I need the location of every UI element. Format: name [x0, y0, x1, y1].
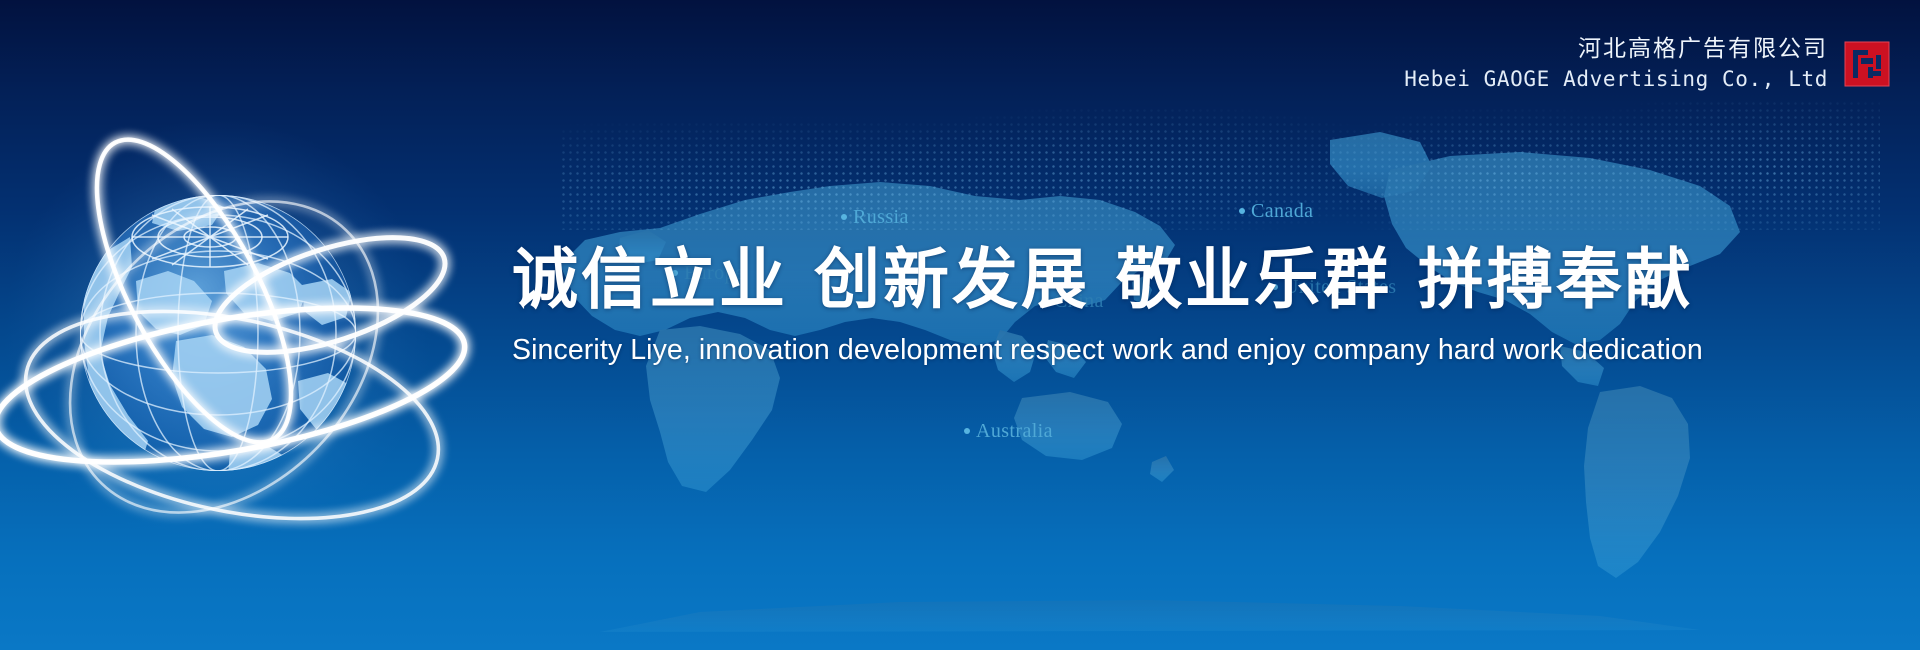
company-identity: 河北高格广告有限公司 Hebei GAOGE Advertising Co., … — [1404, 34, 1890, 93]
globe-orbit-graphic — [0, 85, 450, 555]
map-marker-dot-icon — [964, 428, 970, 434]
slogan-block: 诚信立业 创新发展 敬业乐群 拼搏奉献 Sincerity Liye, inno… — [512, 245, 1882, 367]
slogan-english: Sincerity Liye, innovation development r… — [512, 334, 1882, 367]
map-label-australia: Australia — [964, 420, 1053, 443]
promo-banner: Russia Canada Australia Europe China Uni… — [0, 0, 1920, 650]
map-label-russia: Russia — [841, 206, 909, 229]
company-name-block: 河北高格广告有限公司 Hebei GAOGE Advertising Co., … — [1404, 34, 1828, 93]
map-marker-dot-icon — [841, 214, 847, 220]
gaoge-monogram-logo-icon — [1844, 41, 1890, 87]
company-name-en: Hebei GAOGE Advertising Co., Ltd — [1404, 66, 1828, 93]
map-label-canada: Canada — [1239, 200, 1313, 223]
slogan-chinese: 诚信立业 创新发展 敬业乐群 拼搏奉献 — [512, 245, 1882, 314]
map-marker-dot-icon — [1239, 208, 1245, 214]
company-name-cn: 河北高格广告有限公司 — [1404, 34, 1828, 63]
